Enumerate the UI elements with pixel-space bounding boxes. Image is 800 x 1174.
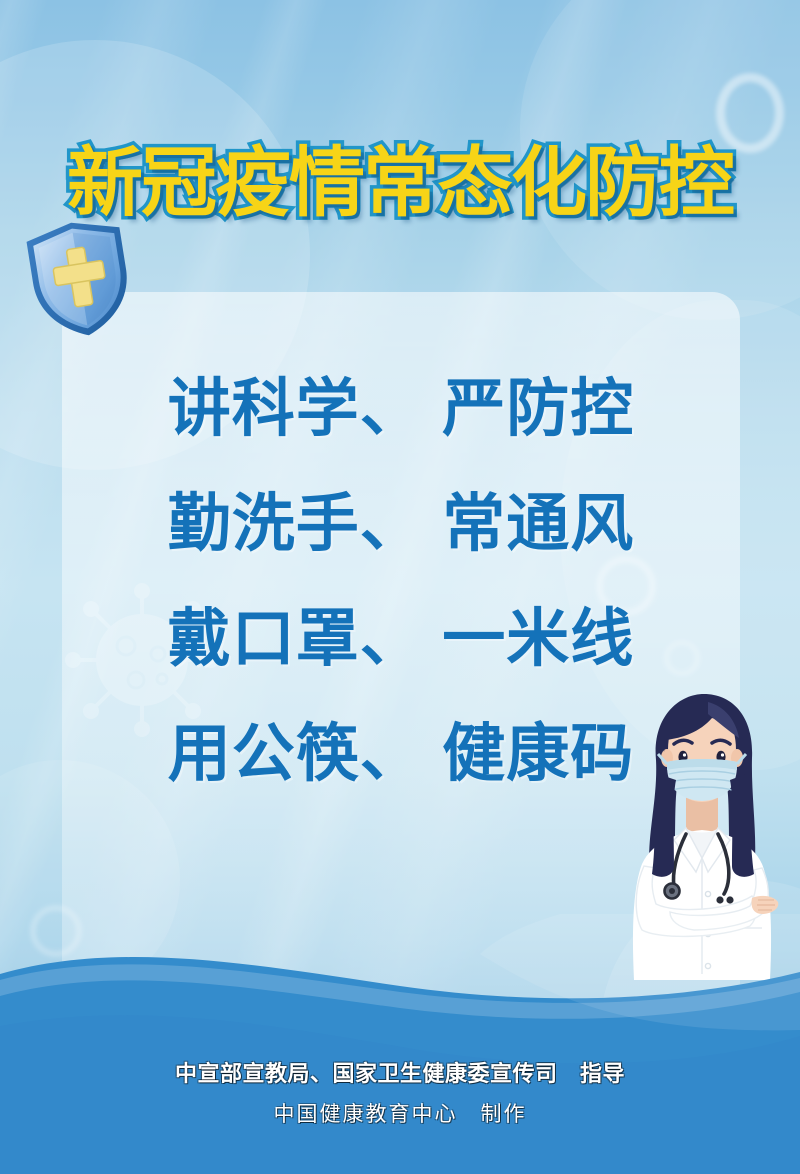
poster-canvas: 新冠疫情常态化防控 讲科学、 严防控 勤洗手、 常通风 戴口罩、 [0,0,800,1174]
slogan-line: 戴口罩、 一米线 [62,582,740,697]
footer-producer-line: 中国健康教育中心 制作 [0,1098,800,1128]
shield-cross-icon [15,210,145,348]
footer-guidance-line: 中宣部宣教局、国家卫生健康委宣传司 指导 [0,1056,800,1088]
page-title: 新冠疫情常态化防控 [67,146,733,222]
slogan-line: 讲科学、 严防控 [62,352,740,467]
slogan-line: 勤洗手、 常通风 [62,467,740,582]
footer-wave-band [0,914,800,1174]
footer-credits: 中宣部宣教局、国家卫生健康委宣传司 指导 中国健康教育中心 制作 [0,1056,800,1128]
